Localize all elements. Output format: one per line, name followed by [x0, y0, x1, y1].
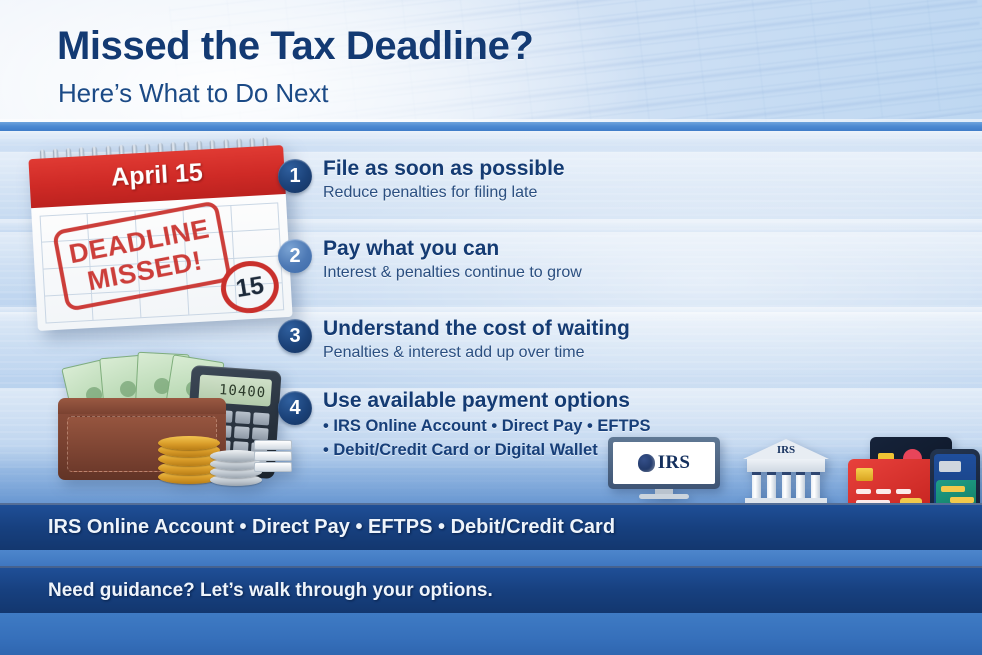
- footer-strip: [0, 613, 982, 655]
- page-subtitle: Here’s What to Do Next: [58, 78, 328, 109]
- bar-separator: [0, 550, 982, 566]
- step-item-1: 1 File as soon as possible Reduce penalt…: [278, 157, 565, 202]
- desktop-monitor-icon: IRS: [608, 437, 720, 499]
- step-subtitle: Interest & penalties continue to grow: [323, 264, 582, 282]
- building-irs-label: IRS: [743, 444, 829, 456]
- irs-seal-icon: [638, 454, 655, 472]
- step-number-badge: 4: [278, 391, 312, 425]
- step-title: Use available payment options: [323, 389, 651, 413]
- step-bullet-line-1: • IRS Online Account • Direct Pay • EFTP…: [323, 415, 651, 437]
- step-title: Understand the cost of waiting: [323, 317, 630, 341]
- header-divider-rule: [0, 122, 982, 131]
- payment-options-text: IRS Online Account • Direct Pay • EFTPS …: [48, 516, 615, 539]
- step-title: Pay what you can: [323, 237, 582, 261]
- step-item-3: 3 Understand the cost of waiting Penalti…: [278, 317, 630, 362]
- cta-bar: Need guidance? Let’s walk through your o…: [0, 566, 982, 613]
- page-title: Missed the Tax Deadline?: [57, 24, 533, 69]
- step-item-2: 2 Pay what you can Interest & penalties …: [278, 237, 582, 282]
- payment-cards-group: [848, 437, 982, 513]
- step-number-badge: 1: [278, 159, 312, 193]
- step-number-badge: 3: [278, 319, 312, 353]
- step-title: File as soon as possible: [323, 157, 565, 181]
- step-item-4: 4 Use available payment options • IRS On…: [278, 389, 651, 461]
- irs-logo-text: IRS: [658, 452, 691, 474]
- cta-text: Need guidance? Let’s walk through your o…: [48, 580, 493, 602]
- irs-building-icon: IRS: [743, 439, 829, 509]
- step-subtitle: Reduce penalties for filing late: [323, 184, 565, 202]
- step-number-badge: 2: [278, 239, 312, 273]
- step-subtitle: Penalties & interest add up over time: [323, 344, 630, 362]
- infographic-slide: Missed the Tax Deadline? Here’s What to …: [0, 0, 982, 655]
- payment-options-bar: IRS Online Account • Direct Pay • EFTPS …: [0, 503, 982, 550]
